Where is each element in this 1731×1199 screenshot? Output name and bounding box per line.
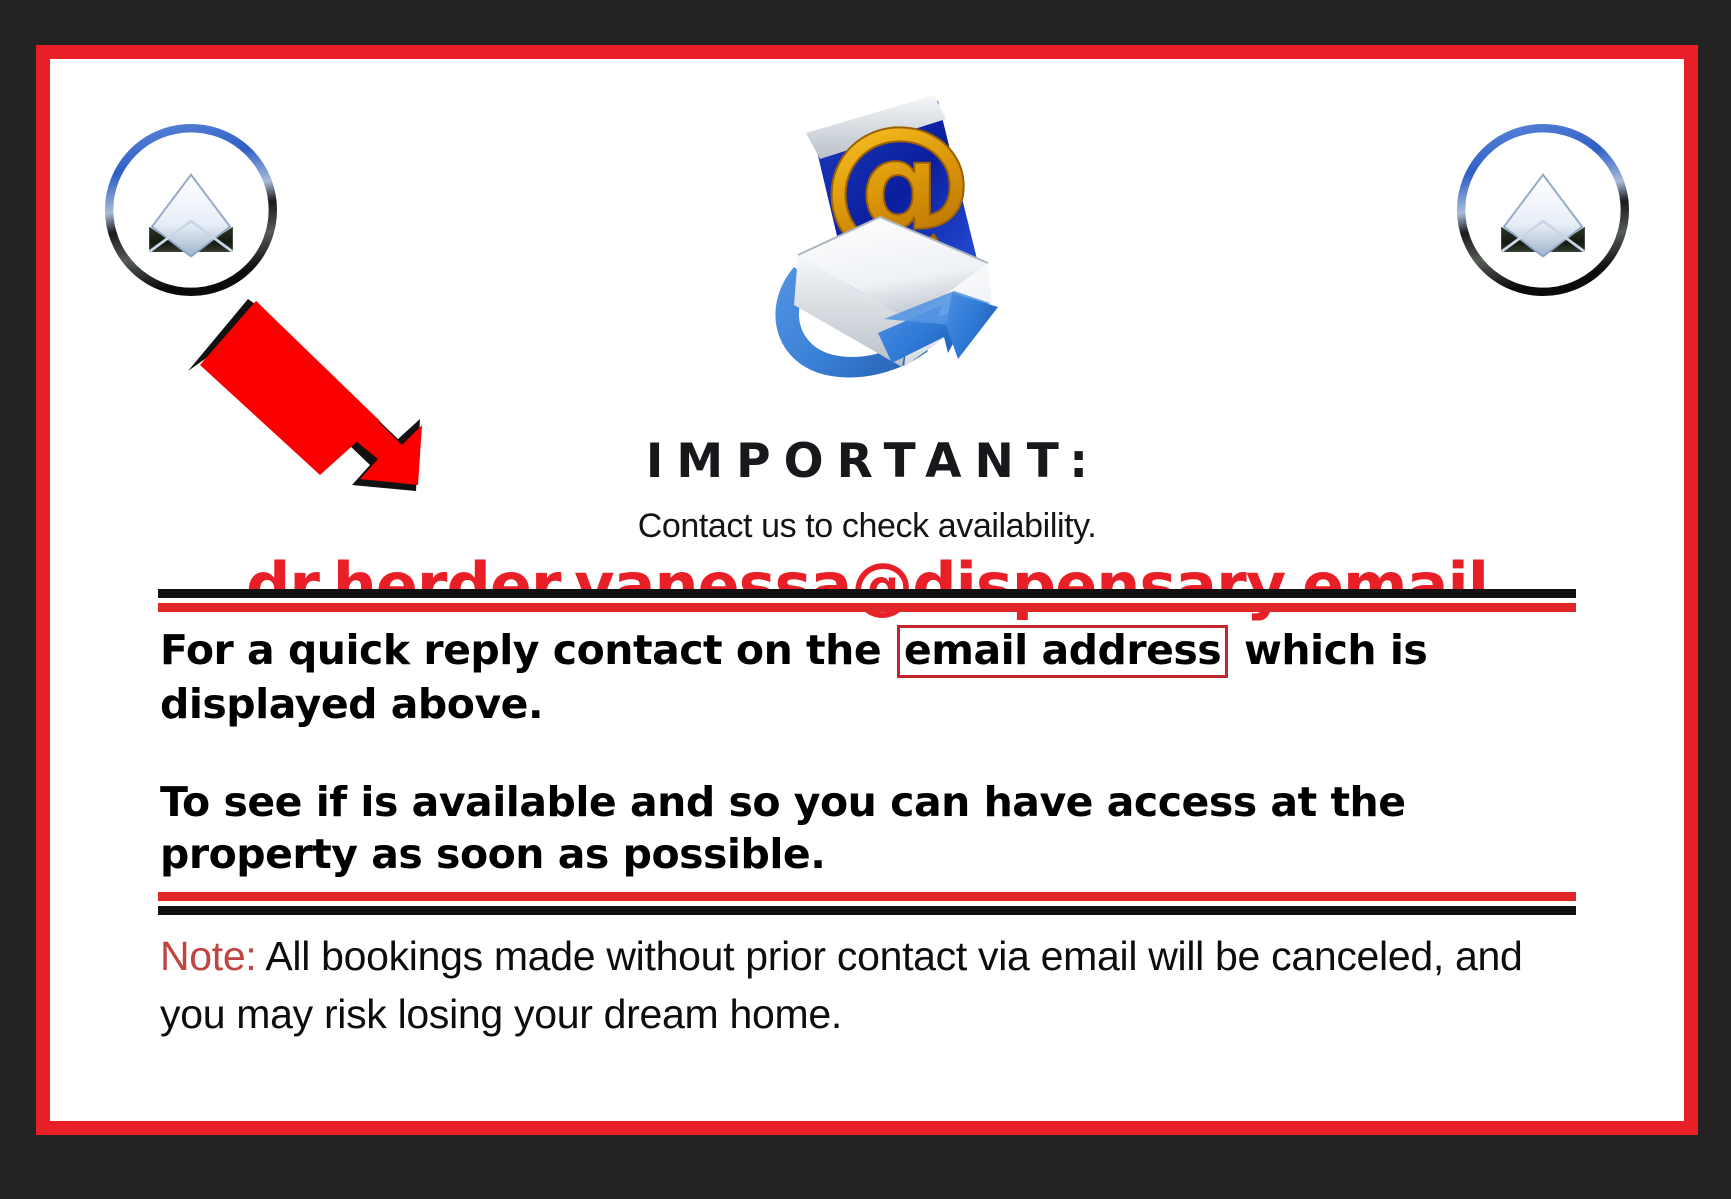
poster-card: @ — [50, 59, 1684, 1121]
paragraph-one: For a quick reply contact on the email a… — [160, 624, 1588, 730]
red-border-frame: @ — [36, 45, 1698, 1135]
paragraph-one-before: For a quick reply contact on the — [160, 626, 881, 674]
divider-bar-black — [158, 589, 1576, 598]
note-text: All bookings made without prior contact … — [160, 933, 1523, 1037]
divider-top — [158, 589, 1576, 612]
paragraph-two: To see if is available and so you can ha… — [160, 776, 1588, 880]
note-block: Note: All bookings made without prior co… — [160, 927, 1588, 1043]
email-address-highlight: email address — [897, 625, 1228, 678]
divider-bar-red — [158, 892, 1576, 901]
envelope-circle-icon — [98, 117, 284, 303]
note-label: Note: — [160, 933, 257, 979]
divider-bar-red — [158, 603, 1576, 612]
divider-bar-black — [158, 906, 1576, 915]
subtitle: Contact us to check availability. — [50, 507, 1684, 546]
poster-stage: @ — [0, 0, 1731, 1199]
divider-bottom — [158, 892, 1576, 915]
at-sign-envelope-icon: @ — [702, 67, 1032, 397]
page-title: IMPORTANT: — [50, 434, 1684, 489]
envelope-circle-icon — [1450, 117, 1636, 303]
body-block: For a quick reply contact on the email a… — [160, 624, 1588, 926]
